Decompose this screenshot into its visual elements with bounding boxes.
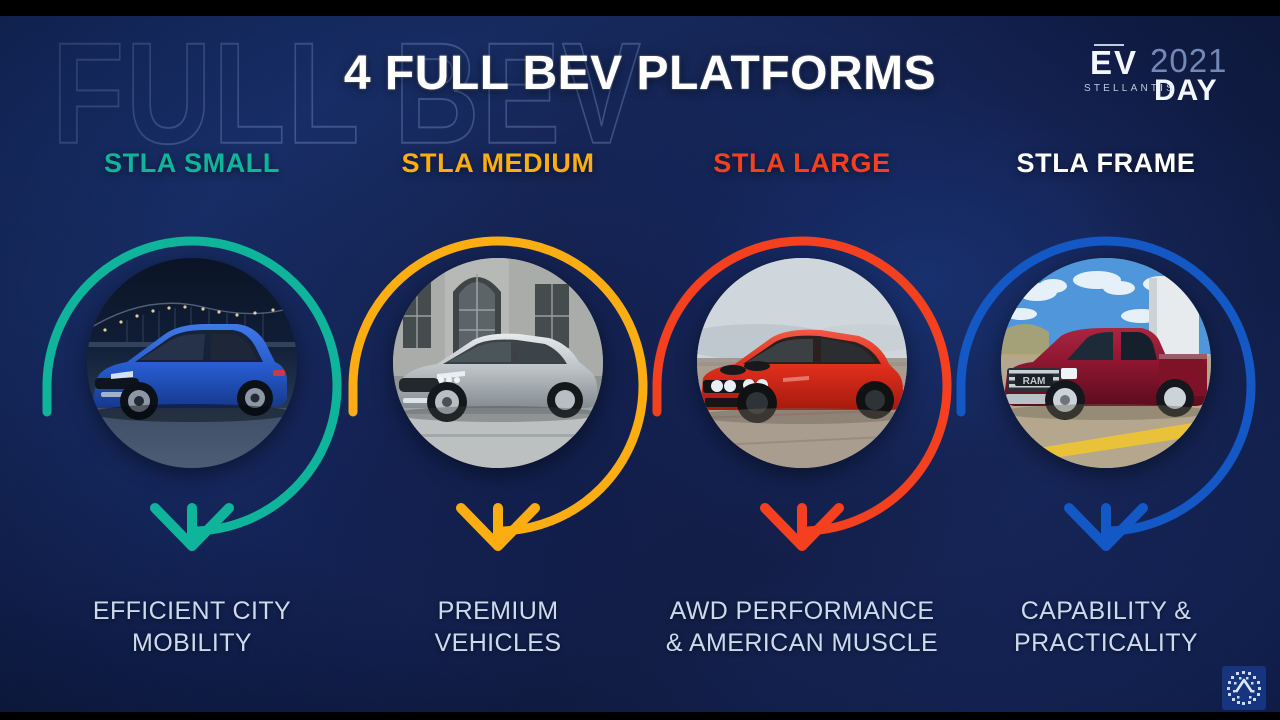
logo-year-text: 2021 (1150, 44, 1227, 77)
stellantis-mark-icon (1222, 666, 1266, 710)
ev-day-logo: EV 2021 DAY STELLANTIS (1076, 42, 1232, 108)
caption-line-2: VEHICLES (338, 628, 658, 660)
platform-ring-stla-small (27, 216, 357, 556)
platform-columns: STLA SMALL (0, 16, 1280, 712)
ring-arc-svg-stla-small (27, 216, 357, 556)
presentation-slide: FULL BEV 4 FULL BEV PLATFORMS EV 2021 DA… (0, 0, 1280, 720)
platform-column-stla-frame[interactable]: STLA FRAME (946, 16, 1266, 712)
platform-ring-stla-frame: RAM (941, 216, 1271, 556)
caption-line-1: PREMIUM (338, 596, 658, 628)
platform-caption-stla-medium: PREMIUM VEHICLES (338, 596, 658, 659)
ring-arc-svg-stla-frame (941, 216, 1271, 556)
caption-line-2: MOBILITY (32, 628, 352, 660)
letterbox-bottom (0, 712, 1280, 720)
platform-title-stla-large: STLA LARGE (642, 148, 962, 179)
platform-caption-stla-small: EFFICIENT CITY MOBILITY (32, 596, 352, 659)
platform-caption-stla-large: AWD PERFORMANCE & AMERICAN MUSCLE (642, 596, 962, 659)
platform-caption-stla-frame: CAPABILITY & PRACTICALITY (946, 596, 1266, 659)
platform-ring-stla-medium (333, 216, 663, 556)
platform-ring-stla-large (637, 216, 967, 556)
ring-arc-svg-stla-medium (333, 216, 663, 556)
caption-line-1: AWD PERFORMANCE (642, 596, 962, 628)
logo-brand-text: STELLANTIS (1084, 84, 1176, 94)
platform-column-stla-medium[interactable]: STLA MEDIUM (338, 16, 658, 712)
platform-title-stla-medium: STLA MEDIUM (338, 148, 658, 179)
platform-column-stla-small[interactable]: STLA SMALL (32, 16, 352, 712)
platform-column-stla-large[interactable]: STLA LARGE (642, 16, 962, 712)
caption-line-1: CAPABILITY & (946, 596, 1266, 628)
logo-ev-text: EV (1090, 46, 1138, 79)
caption-line-2: PRACTICALITY (946, 628, 1266, 660)
letterbox-top (0, 0, 1280, 16)
platform-title-stla-small: STLA SMALL (32, 148, 352, 179)
caption-line-2: & AMERICAN MUSCLE (642, 628, 962, 660)
ring-arc-svg-stla-large (637, 216, 967, 556)
caption-line-1: EFFICIENT CITY (32, 596, 352, 628)
platform-title-stla-frame: STLA FRAME (946, 148, 1266, 179)
slide-stage: FULL BEV 4 FULL BEV PLATFORMS EV 2021 DA… (0, 16, 1280, 712)
